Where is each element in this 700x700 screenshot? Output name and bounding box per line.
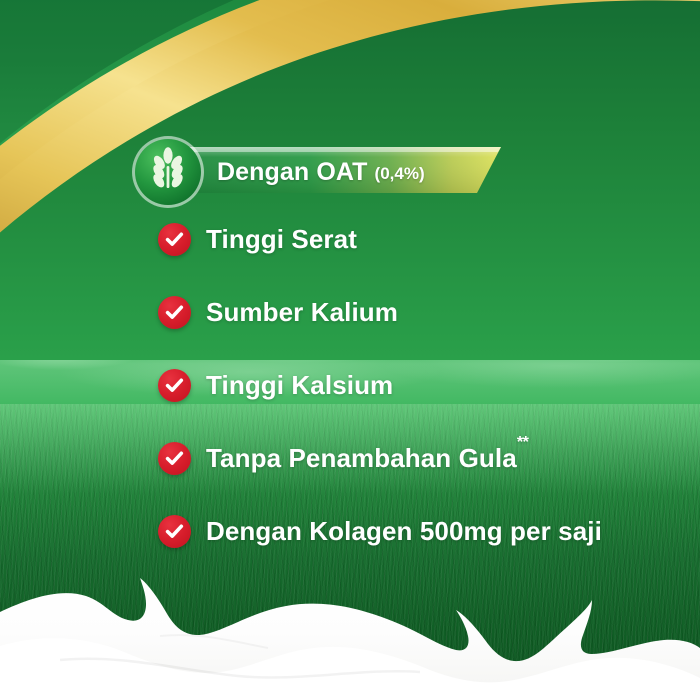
benefit-item: Tinggi Serat	[158, 213, 678, 265]
benefit-label: Tanpa Penambahan Gula**	[206, 443, 528, 474]
benefit-item: Tinggi Kalsium	[158, 359, 678, 411]
check-circle-icon	[158, 369, 191, 402]
check-circle-icon	[158, 296, 191, 329]
benefit-label: Sumber Kalium	[206, 297, 398, 328]
benefit-label: Tinggi Serat	[206, 224, 357, 255]
check-circle-icon	[158, 442, 191, 475]
benefit-item: Sumber Kalium	[158, 286, 678, 338]
benefit-footnote: **	[517, 433, 529, 451]
milk-splash-wave	[0, 520, 700, 700]
oat-banner-shape	[129, 133, 501, 211]
promo-poster: Dengan OAT (0,4%) Tinggi Serat Sumber Ka…	[0, 0, 700, 700]
benefit-label: Tinggi Kalsium	[206, 370, 393, 401]
check-circle-icon	[158, 223, 191, 256]
benefit-item: Tanpa Penambahan Gula**	[158, 432, 678, 484]
oat-banner: Dengan OAT (0,4%)	[129, 133, 501, 211]
